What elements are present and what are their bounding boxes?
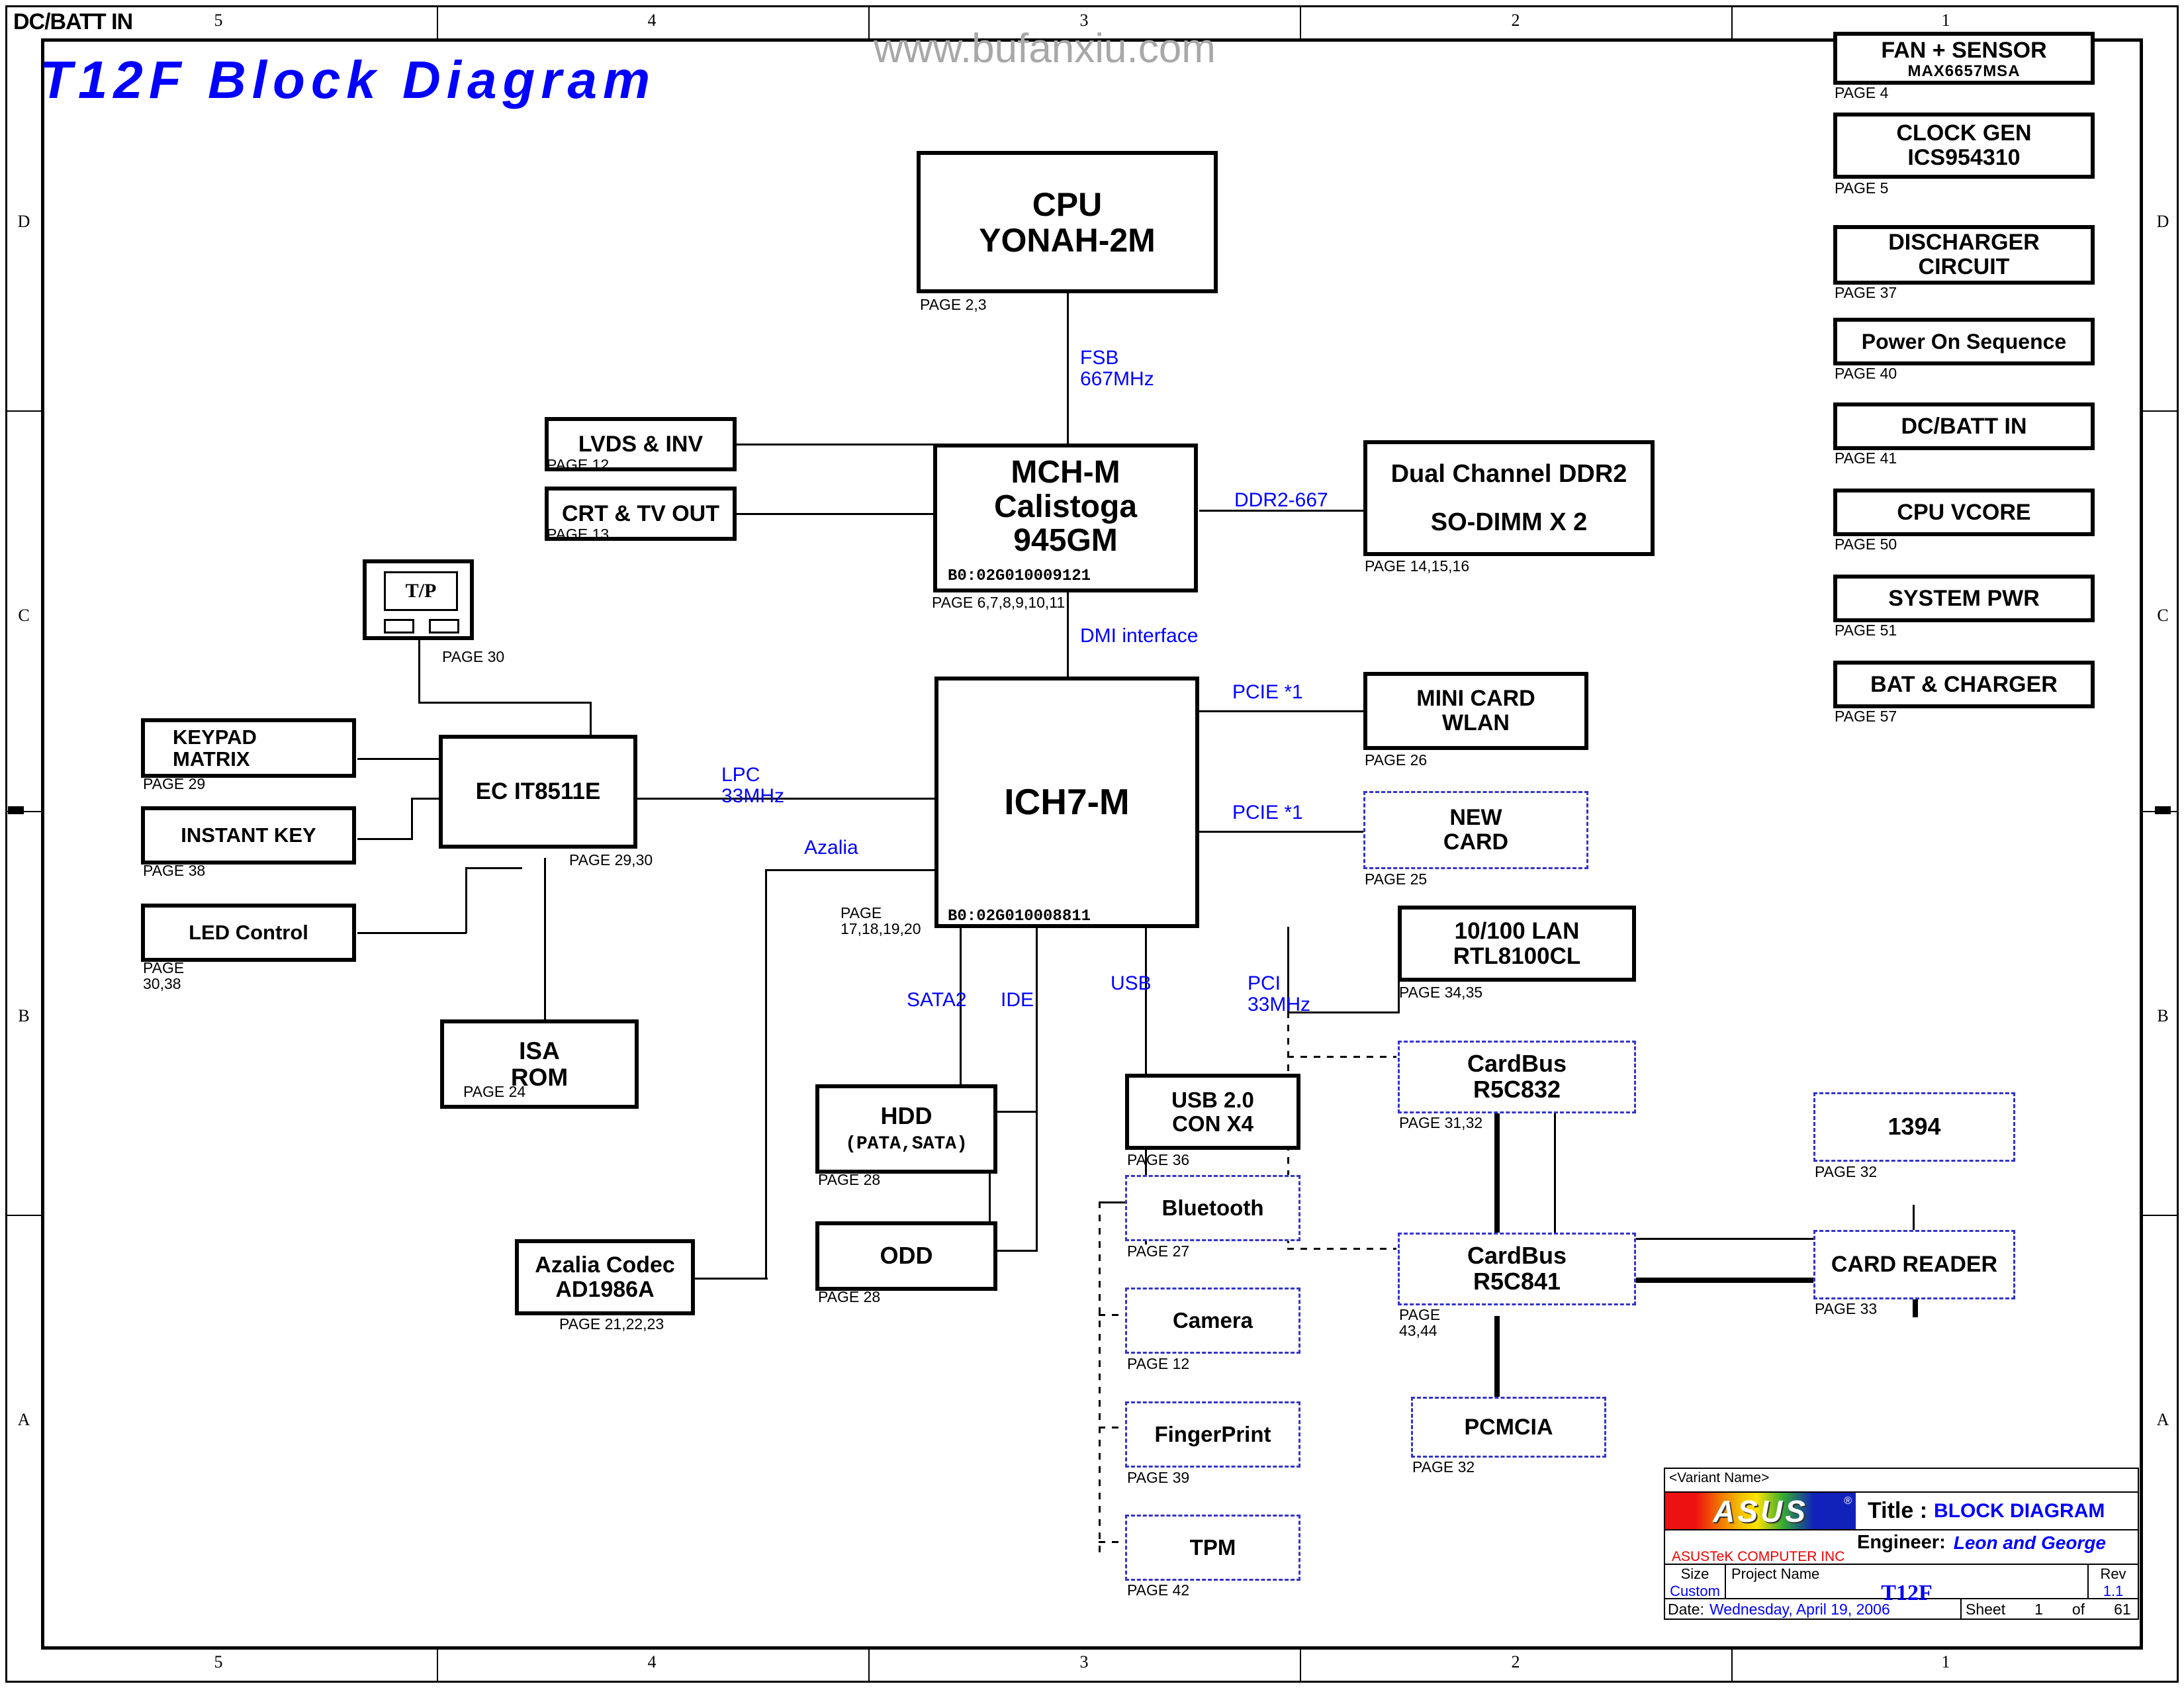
schematic-sheet: 5 4 3 2 1 5 4 3 2 1 D C B A D C B A DC/B… [0,0,2184,1688]
block-minicard-line1: MINI CARD [1416,686,1535,711]
block-cardbus-r5c841[interactable]: CardBus R5C841 [1398,1233,1636,1305]
wire-instantkey-1 [357,838,413,840]
page-ref-lan: PAGE 34,35 [1399,984,1482,1000]
rev-label: Rev [2089,1566,2138,1583]
wire-pci-cardbus841 [1287,1248,1396,1250]
page-ref-cardbus832: PAGE 31,32 [1399,1115,1482,1131]
ruler-tick-bottom [868,1650,870,1683]
block-azalia-codec[interactable]: Azalia Codec AD1986A [515,1239,695,1315]
rev-value: 1.1 [2089,1583,2138,1600]
block-newcard-line2: CARD [1443,830,1508,855]
engineer-row: ASUSTeK COMPUTER INC Engineer: Leon and … [1665,1530,2138,1565]
net-label-pcie-2: PCIE *1 [1232,802,1303,823]
page-ref-hdd: PAGE 28 [818,1172,880,1188]
ruler-label-col-2-bottom: 2 [1496,1652,1535,1672]
block-system-pwr-label: SYSTEM PWR [1888,586,2040,611]
page-ref-fingerprint: PAGE 39 [1127,1470,1189,1485]
block-bluetooth-label: Bluetooth [1162,1196,1264,1220]
page-ref-dc-batt-in: PAGE 41 [1835,450,1897,466]
title-block-logo-row: ASUS ® Title : BLOCK DIAGRAM [1665,1491,2138,1530]
block-tpm[interactable]: TPM [1125,1515,1300,1581]
title-block: <Variant Name> ASUS ® Title : BLOCK DIAG… [1664,1468,2139,1620]
block-usb-line2: CON X4 [1172,1112,1253,1136]
block-minicard-line2: WLAN [1442,711,1510,735]
page-ref-cardreader: PAGE 33 [1815,1301,1877,1317]
block-isa-rom-line1: ISA [519,1038,560,1064]
block-fan-sensor-line2: MAX6657MSA [1907,63,2020,80]
block-ec-label: EC IT8511E [476,779,601,804]
center-marker-right [2155,806,2171,814]
net-label-ddr2: DDR2-667 [1234,490,1328,511]
touchpad-left-button[interactable] [384,619,414,633]
net-label-ide: IDE [1001,990,1034,1011]
block-dc-batt-in-label: DC/BATT IN [1901,414,2026,439]
page-ref-crt: PAGE 13 [547,526,609,542]
page-ref-mch: PAGE 6,7,8,9,10,11 [932,594,1065,610]
block-fingerprint-label: FingerPrint [1154,1423,1271,1446]
page-ref-pcmcia: PAGE 32 [1412,1459,1475,1475]
wire-fsb [1067,293,1069,445]
wire-camera-tap [1099,1314,1125,1316]
wire-dmi [1067,591,1069,677]
registered-trademark-icon: ® [1844,1495,1852,1507]
sheet-corner-label: DC/BATT IN [13,9,132,35]
ruler-label-row-D: D [11,212,37,232]
size-label: Size [1665,1566,1725,1583]
ruler-label-row-B-right: B [2150,1006,2176,1026]
wire-ide [1036,927,1038,1251]
block-cpu[interactable]: CPU YONAH-2M [917,151,1218,293]
watermark: www.bufanxiu.com [874,25,1216,72]
page-ref-fan-sensor: PAGE 4 [1835,85,1888,101]
block-1394-label: 1394 [1888,1114,1940,1140]
page-ref-bat-charger: PAGE 57 [1835,708,1897,724]
page-ref-clock-gen: PAGE 5 [1835,180,1888,196]
wire-pcie-minicard [1199,710,1363,712]
block-azalia-line1: Azalia Codec [535,1253,675,1278]
page-ref-minicard: PAGE 26 [1365,752,1427,768]
block-mch-line2: Calistoga [994,490,1137,524]
block-led-control-label: LED Control [189,921,308,943]
net-label-fsb: FSB 667MHz [1080,348,1154,390]
ruler-label-col-3-bottom: 3 [1064,1652,1104,1672]
block-odd-label: ODD [880,1243,933,1269]
wire-pcmcia [1494,1316,1500,1406]
net-label-dmi: DMI interface [1080,626,1198,647]
ruler-label-col-5: 5 [199,11,238,30]
page-ref-ec: PAGE 29,30 [569,852,653,868]
page-ref-1394: PAGE 32 [1815,1164,1877,1180]
block-cardbus832-line1: CardBus [1467,1051,1567,1077]
page-ref-bluetooth: PAGE 27 [1127,1243,1189,1259]
block-clock-gen-line1: CLOCK GEN [1897,121,2032,146]
center-marker-left [8,806,24,814]
ruler-label-row-C-right: C [2150,606,2176,626]
company-name: ASUSTeK COMPUTER INC [1672,1549,1844,1565]
wire-instantkey-2 [411,798,413,840]
block-cpu-vcore-label: CPU VCORE [1897,500,2030,525]
block-cardbus841-line1: CardBus [1467,1243,1567,1269]
block-usb-line1: USB 2.0 [1171,1088,1254,1112]
block-led-control[interactable]: LED Control [141,904,356,962]
block-cpu-line2: YONAH-2M [979,222,1156,258]
wire-lpc [635,798,934,800]
ruler-tick-top [437,5,438,38]
wire-azalia-codec [695,1278,768,1280]
date-value: Wednesday, April 19, 2006 [1709,1601,1890,1618]
wire-ec-isarom [544,858,546,1020]
block-ich-part-number: B0:02G010008811 [948,908,1091,925]
block-ddr-line1: Dual Channel DDR2 [1391,450,1627,498]
block-mch-line1: MCH-M [1011,455,1120,490]
page-title: T12F Block Diagram [40,50,656,111]
block-cardbus832-line2: R5C832 [1473,1077,1561,1103]
block-ddr-line2: SO-DIMM X 2 [1431,498,1587,546]
block-keypad-matrix[interactable]: KEYPAD MATRIX [141,718,356,778]
title-label: Title : [1868,1498,1927,1524]
block-camera[interactable]: Camera [1125,1288,1300,1354]
block-lan-line1: 10/100 LAN [1455,919,1580,944]
block-ich[interactable]: ICH7-M [934,677,1199,928]
engineer-cell: Engineer: Leon and George [1857,1532,2106,1554]
block-lan-line2: RTL8100CL [1453,944,1581,969]
block-instant-key-label: INSTANT KEY [181,824,316,846]
sheet-number: 1 [2034,1601,2043,1618]
ruler-label-col-4-bottom: 4 [632,1652,672,1672]
variant-name: <Variant Name> [1669,1470,1769,1486]
block-newcard-line1: NEW [1449,806,1502,830]
block-keypad-line1: KEYPAD [173,726,257,748]
block-bluetooth[interactable]: Bluetooth [1125,1175,1300,1241]
wire-tpm-tap [1099,1541,1125,1543]
block-pcmcia[interactable]: PCMCIA [1411,1397,1606,1458]
wire-pcie-newcard [1199,831,1363,833]
sheet-total: 61 [2114,1601,2131,1618]
ruler-tick-top [1731,5,1733,38]
block-mch-line3: 945GM [1013,524,1117,558]
ruler-tick-right [2143,410,2179,412]
ruler-tick-bottom [437,1650,438,1683]
ruler-label-col-5-bottom: 5 [199,1652,238,1672]
ruler-label-row-C: C [11,606,37,626]
block-hdd-line1: HDD [881,1103,933,1129]
sheet-cell: Sheet 1 of 61 [1960,1599,2138,1620]
date-label: Date: [1668,1601,1704,1618]
page-ref-usb: PAGE 36 [1127,1152,1189,1168]
net-label-sata2: SATA2 [907,990,967,1011]
block-odd[interactable]: ODD [815,1221,997,1291]
block-dc-batt-in[interactable]: DC/BATT IN [1833,402,2095,450]
size-value: Custom [1665,1583,1725,1600]
net-label-usb: USB [1111,973,1152,994]
ruler-tick-right [2143,1215,2179,1216]
ruler-label-col-1-bottom: 1 [1926,1652,1966,1672]
block-mini-card-wlan[interactable]: MINI CARD WLAN [1363,672,1588,750]
ruler-label-col-4: 4 [632,11,672,30]
wire-azalia-horizontal [765,869,934,871]
block-discharger-line2: CIRCUIT [1919,255,2010,279]
block-discharger-line1: DISCHARGER [1888,230,2040,255]
block-usb-con[interactable]: USB 2.0 CON X4 [1125,1074,1300,1150]
block-azalia-line2: AD1986A [555,1278,654,1302]
block-fingerprint[interactable]: FingerPrint [1125,1401,1300,1468]
net-label-azalia: Azalia [804,837,858,859]
block-ddr[interactable]: Dual Channel DDR2 SO-DIMM X 2 [1363,440,1655,556]
wire-tp-1 [418,640,420,704]
block-keypad-line2: MATRIX [173,748,250,770]
page-ref-odd: PAGE 28 [818,1289,880,1305]
block-touchpad[interactable]: T/P [363,559,474,640]
block-hdd[interactable]: HDD (PATA,SATA) [815,1084,997,1174]
page-ref-ddr: PAGE 14,15,16 [1365,558,1469,574]
block-camera-label: Camera [1173,1309,1253,1333]
page-ref-camera: PAGE 12 [1127,1356,1189,1372]
block-clock-gen[interactable]: CLOCK GEN ICS954310 [1833,113,2095,179]
block-pcmcia-label: PCMCIA [1464,1415,1553,1440]
page-ref-tpm: PAGE 42 [1127,1582,1189,1598]
touchpad-surface: T/P [384,571,458,611]
page-ref-cardbus841: PAGE 43,44 [1399,1307,1440,1338]
ruler-label-col-2: 2 [1496,11,1535,30]
ruler-label-row-A-right: A [2150,1410,2176,1430]
ruler-tick-bottom [1731,1650,1733,1683]
block-card-reader[interactable]: CARD READER [1813,1230,2015,1299]
block-tpm-label: TPM [1190,1536,1236,1560]
block-cardbus-r5c832[interactable]: CardBus R5C832 [1398,1041,1636,1113]
wire-fingerprint-tap [1099,1427,1125,1429]
rev-cell: Rev 1.1 [2089,1565,2138,1598]
block-instant-key[interactable]: INSTANT KEY [141,806,356,865]
block-clock-gen-line2: ICS954310 [1907,146,2020,170]
asus-logo-text: ASUS [1682,1493,1839,1529]
block-lan[interactable]: 10/100 LAN RTL8100CL [1398,906,1636,982]
wire-bt-tap [1099,1201,1125,1203]
sheet-label: Sheet [1966,1601,2005,1618]
page-ref-power-on: PAGE 40 [1835,365,1897,381]
page-ref-cpu-vcore: PAGE 50 [1835,536,1897,552]
page-ref-tp: PAGE 30 [442,649,504,665]
wire-azalia-vertical [765,869,767,1280]
ruler-tick-top [1300,5,1301,38]
page-ref-discharger: PAGE 37 [1835,285,1897,301]
block-new-card[interactable]: NEW CARD [1363,791,1588,869]
block-ich-label: ICH7-M [1004,782,1129,821]
block-system-pwr[interactable]: SYSTEM PWR [1833,575,2095,622]
wire-usb-optional-bus [1099,1201,1101,1552]
net-label-lpc: LPC 33MHz [721,765,784,807]
ruler-tick-left [5,410,41,412]
block-cardreader-label: CARD READER [1831,1252,1997,1277]
block-mch-part-number: B0:02G010009121 [948,568,1091,585]
page-ref-newcard: PAGE 25 [1365,871,1427,887]
block-cpu-line1: CPU [1032,187,1103,222]
page-ref-keypad: PAGE 29 [143,776,205,792]
page-ref-system-pwr: PAGE 51 [1835,622,1897,638]
wire-led-3 [465,867,522,869]
block-fan-sensor[interactable]: FAN + SENSOR MAX6657MSA [1833,32,2095,85]
wire-led-2 [465,867,467,933]
block-cardbus841-line2: R5C841 [1473,1269,1561,1295]
wire-led-1 [357,932,467,934]
block-power-on-label: Power On Sequence [1862,330,2066,353]
page-ref-isarom: PAGE 24 [463,1084,525,1100]
block-cpu-vcore[interactable]: CPU VCORE [1833,489,2095,536]
page-ref-cpu: PAGE 2,3 [920,297,987,312]
title-cell: Title : BLOCK DIAGRAM [1857,1493,2138,1529]
ruler-label-row-B: B [11,1006,37,1026]
block-bat-charger-label: BAT & CHARGER [1870,673,2058,697]
title-value: BLOCK DIAGRAM [1934,1500,2105,1523]
block-lvds-inv-label: LVDS & INV [578,432,703,457]
ruler-tick-left [5,1215,41,1216]
block-discharger-circuit[interactable]: DISCHARGER CIRCUIT [1833,225,2095,285]
net-label-pcie-1: PCIE *1 [1232,682,1303,703]
engineer-label: Engineer: [1857,1532,1946,1554]
ruler-tick-bottom [1300,1650,1301,1683]
page-ref-azalia: PAGE 21,22,23 [559,1316,664,1332]
net-label-pci: PCI 33MHz [1248,973,1310,1015]
ruler-label-row-D-right: D [2150,212,2176,232]
asus-logo: ASUS ® [1665,1493,1856,1529]
block-hdd-line2: (PATA,SATA) [845,1135,968,1154]
ruler-label-row-A: A [11,1410,37,1430]
wire-tp-2 [418,702,592,704]
wire-mch-lvds [737,444,935,445]
block-crt-tv-out-label: CRT & TV OUT [562,502,719,526]
page-ref-instantkey: PAGE 38 [143,863,205,878]
page-ref-ich: PAGE 17,18,19,20 [841,905,921,937]
block-1394[interactable]: 1394 [1813,1092,2015,1162]
engineer-value: Leon and George [1954,1532,2106,1554]
wire-mch-crt [737,513,935,515]
block-power-on-sequence[interactable]: Power On Sequence [1833,318,2095,365]
sheet-of-label: of [2072,1601,2085,1618]
project-cell: Project Name T12F [1726,1565,2089,1598]
ruler-label-col-1: 1 [1926,11,1966,30]
date-row: Date: Wednesday, April 19, 2006 Sheet 1 … [1665,1599,2138,1620]
block-bat-charger[interactable]: BAT & CHARGER [1833,661,2095,708]
project-row: Size Custom Project Name T12F Rev 1.1 [1665,1565,2138,1599]
wire-pci-cardbus832 [1287,1056,1396,1058]
touchpad-right-button[interactable] [429,619,459,633]
size-cell: Size Custom [1665,1565,1726,1598]
block-ec[interactable]: EC IT8511E [439,735,637,849]
page-ref-led: PAGE 30,38 [143,960,184,992]
block-fan-sensor-line1: FAN + SENSOR [1881,38,2046,63]
ruler-tick-top [868,5,870,38]
wire-tp-3 [590,702,592,738]
page-ref-lvds: PAGE 12 [547,457,609,473]
